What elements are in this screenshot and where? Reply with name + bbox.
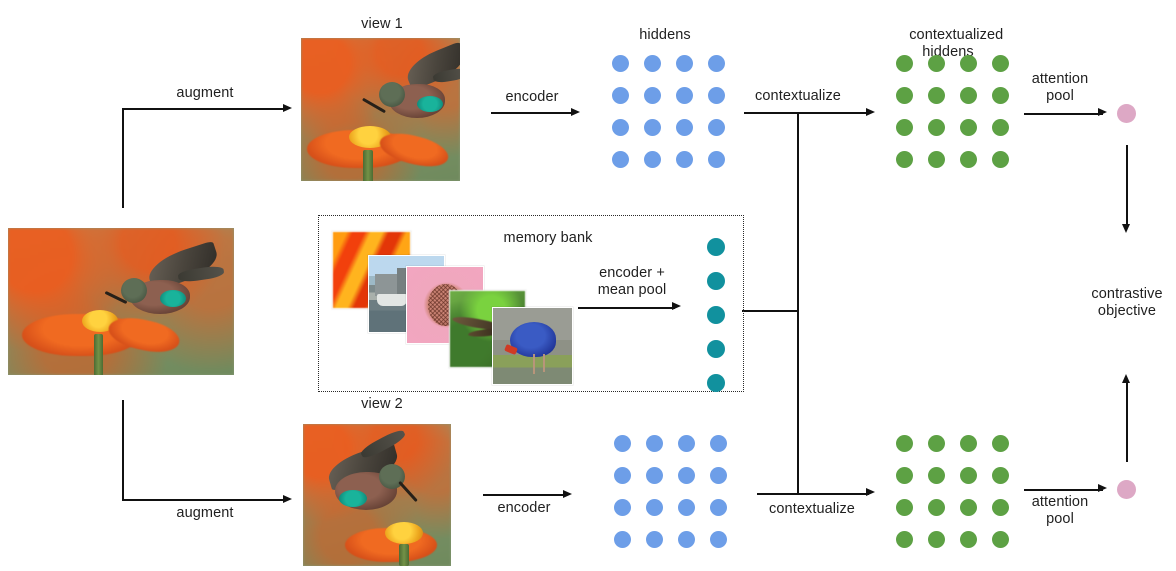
contextualized-node — [896, 499, 913, 516]
hidden-node — [710, 531, 727, 548]
contextualize-bottom-arrow-line — [757, 493, 869, 495]
view-2-bird-gorget — [339, 490, 367, 507]
contextualized-node — [928, 435, 945, 452]
hidden-node — [676, 55, 693, 72]
encoder-bottom-arrowhead — [563, 490, 572, 498]
memory-bank-vectors — [707, 238, 725, 392]
attention-pool-top-label: attention pool — [1032, 71, 1089, 105]
contextualized-node — [992, 119, 1009, 136]
contextualize-bottom-arrowhead — [866, 488, 875, 496]
hidden-node — [708, 119, 725, 136]
hidden-node — [708, 55, 725, 72]
pooled-vector-bottom — [1117, 480, 1136, 499]
augment-bottom-label: augment — [176, 505, 233, 522]
augment-top-label: augment — [176, 85, 233, 102]
contextualized-node — [896, 435, 913, 452]
attention-pool-bottom-arrowhead — [1098, 484, 1107, 492]
contextualized-node — [992, 435, 1009, 452]
hiddens-grid-top — [612, 55, 725, 168]
hidden-node — [644, 87, 661, 104]
contextualized-node — [992, 499, 1009, 516]
contextualized-node — [896, 467, 913, 484]
hidden-node — [676, 87, 693, 104]
hidden-node — [678, 435, 695, 452]
encoder-mean-pool-arrowhead — [672, 302, 681, 310]
contrastive-arrow-bottom-head — [1122, 374, 1130, 383]
hidden-node — [646, 499, 663, 516]
hidden-node — [612, 55, 629, 72]
swamphen-body — [510, 322, 556, 357]
hidden-node — [646, 435, 663, 452]
hidden-node — [612, 119, 629, 136]
memory-bank-trunk-vertical — [797, 112, 799, 493]
contrastive-objective-label: contrastive objective — [1091, 286, 1162, 320]
encoder-top-arrowhead — [571, 108, 580, 116]
hidden-node — [708, 151, 725, 168]
contextualized-node — [960, 499, 977, 516]
hidden-node — [614, 531, 631, 548]
contextualized-node — [896, 119, 913, 136]
hidden-node — [644, 119, 661, 136]
contextualized-node — [896, 151, 913, 168]
contextualize-top-label: contextualize — [755, 88, 841, 105]
hidden-node — [710, 435, 727, 452]
contextualized-node — [960, 87, 977, 104]
harbor-building — [375, 274, 397, 296]
contextualized-node — [896, 87, 913, 104]
view-1-bird-gorget — [417, 96, 443, 112]
augment-top-elbow-horizontal — [122, 108, 284, 110]
view-1-label: view 1 — [361, 16, 403, 33]
hidden-node — [614, 467, 631, 484]
encoder-mean-pool-arrow-line — [578, 307, 675, 309]
contextualized-grid-top — [896, 55, 1009, 168]
contextualized-node — [928, 87, 945, 104]
hidden-node — [710, 499, 727, 516]
encoder-top-label: encoder — [505, 89, 558, 106]
hidden-node — [614, 499, 631, 516]
contrastive-arrow-top-line — [1126, 145, 1128, 227]
hidden-node — [710, 467, 727, 484]
contextualized-grid-bottom — [896, 435, 1009, 548]
hidden-node — [614, 435, 631, 452]
augment-bottom-elbow-horizontal — [122, 499, 284, 501]
contextualized-node — [960, 467, 977, 484]
contrastive-arrow-bottom-line — [1126, 380, 1128, 462]
view-1-flower-stem — [363, 150, 373, 181]
hidden-node — [678, 531, 695, 548]
contextualized-node — [992, 151, 1009, 168]
contextualized-node — [928, 55, 945, 72]
source-image — [8, 228, 234, 375]
hidden-node — [708, 87, 725, 104]
contrastive-arrow-top-head — [1122, 224, 1130, 233]
hidden-node — [646, 467, 663, 484]
memory-vector — [707, 238, 725, 256]
contextualized-node — [928, 119, 945, 136]
pooled-vector-top — [1117, 104, 1136, 123]
hidden-node — [678, 499, 695, 516]
memory-vector — [707, 272, 725, 290]
contextualized-node — [960, 55, 977, 72]
view-2-flower-disc — [385, 522, 423, 544]
contextualized-node — [928, 467, 945, 484]
memory-bank-trunk-branch — [742, 310, 798, 312]
hidden-node — [676, 151, 693, 168]
hiddens-grid-bottom — [614, 435, 727, 548]
harbor-boat — [377, 294, 407, 306]
contextualized-node — [992, 55, 1009, 72]
contextualized-node — [896, 531, 913, 548]
contextualized-node — [928, 499, 945, 516]
source-flower-stem — [94, 334, 103, 375]
hidden-node — [676, 119, 693, 136]
encoder-bottom-label: encoder — [497, 500, 550, 517]
hidden-node — [612, 87, 629, 104]
encoder-mean-pool-label: encoder + mean pool — [598, 265, 667, 299]
attention-pool-bottom-arrow-line — [1024, 489, 1103, 491]
contextualized-node — [960, 435, 977, 452]
encoder-bottom-arrow-line — [483, 494, 565, 496]
source-bird-gorget — [160, 290, 186, 307]
hidden-node — [644, 151, 661, 168]
augment-top-arrowhead — [283, 104, 292, 112]
contextualized-node — [992, 467, 1009, 484]
hidden-node — [678, 467, 695, 484]
hidden-node — [644, 55, 661, 72]
hiddens-label: hiddens — [639, 27, 691, 44]
contextualized-node — [960, 531, 977, 548]
contextualized-node — [928, 151, 945, 168]
diagram-canvas: augment augment view 1 encoder hiddens — [0, 0, 1176, 571]
contextualized-node — [992, 87, 1009, 104]
contextualized-node — [992, 531, 1009, 548]
contextualized-node — [896, 55, 913, 72]
memory-bank-label: memory bank — [504, 230, 593, 247]
hidden-node — [612, 151, 629, 168]
contextualized-node — [928, 531, 945, 548]
memory-vector — [707, 306, 725, 324]
contextualized-node — [960, 119, 977, 136]
contextualize-bottom-label: contextualize — [769, 501, 855, 518]
augment-top-elbow-vertical — [122, 108, 124, 208]
attention-pool-top-arrow-line — [1024, 113, 1103, 115]
encoder-top-arrow-line — [491, 112, 573, 114]
augment-bottom-elbow-vertical — [122, 400, 124, 501]
swamphen-leg — [533, 354, 535, 374]
view-2-flower-stem — [399, 544, 409, 566]
memory-vector — [707, 340, 725, 358]
attention-pool-bottom-label: attention pool — [1032, 494, 1089, 528]
attention-pool-top-arrowhead — [1098, 108, 1107, 116]
memory-vector — [707, 374, 725, 392]
swamphen-leg — [543, 354, 545, 372]
memory-bank-thumb-swamphen — [492, 307, 573, 385]
contextualize-top-arrow-line — [744, 112, 868, 114]
contextualize-top-arrowhead — [866, 108, 875, 116]
hidden-node — [646, 531, 663, 548]
contextualized-node — [960, 151, 977, 168]
view-1-image — [301, 38, 460, 181]
augment-bottom-arrowhead — [283, 495, 292, 503]
view-2-label: view 2 — [361, 396, 403, 413]
view-1-bird-head — [379, 82, 405, 107]
view-2-image — [303, 424, 451, 566]
